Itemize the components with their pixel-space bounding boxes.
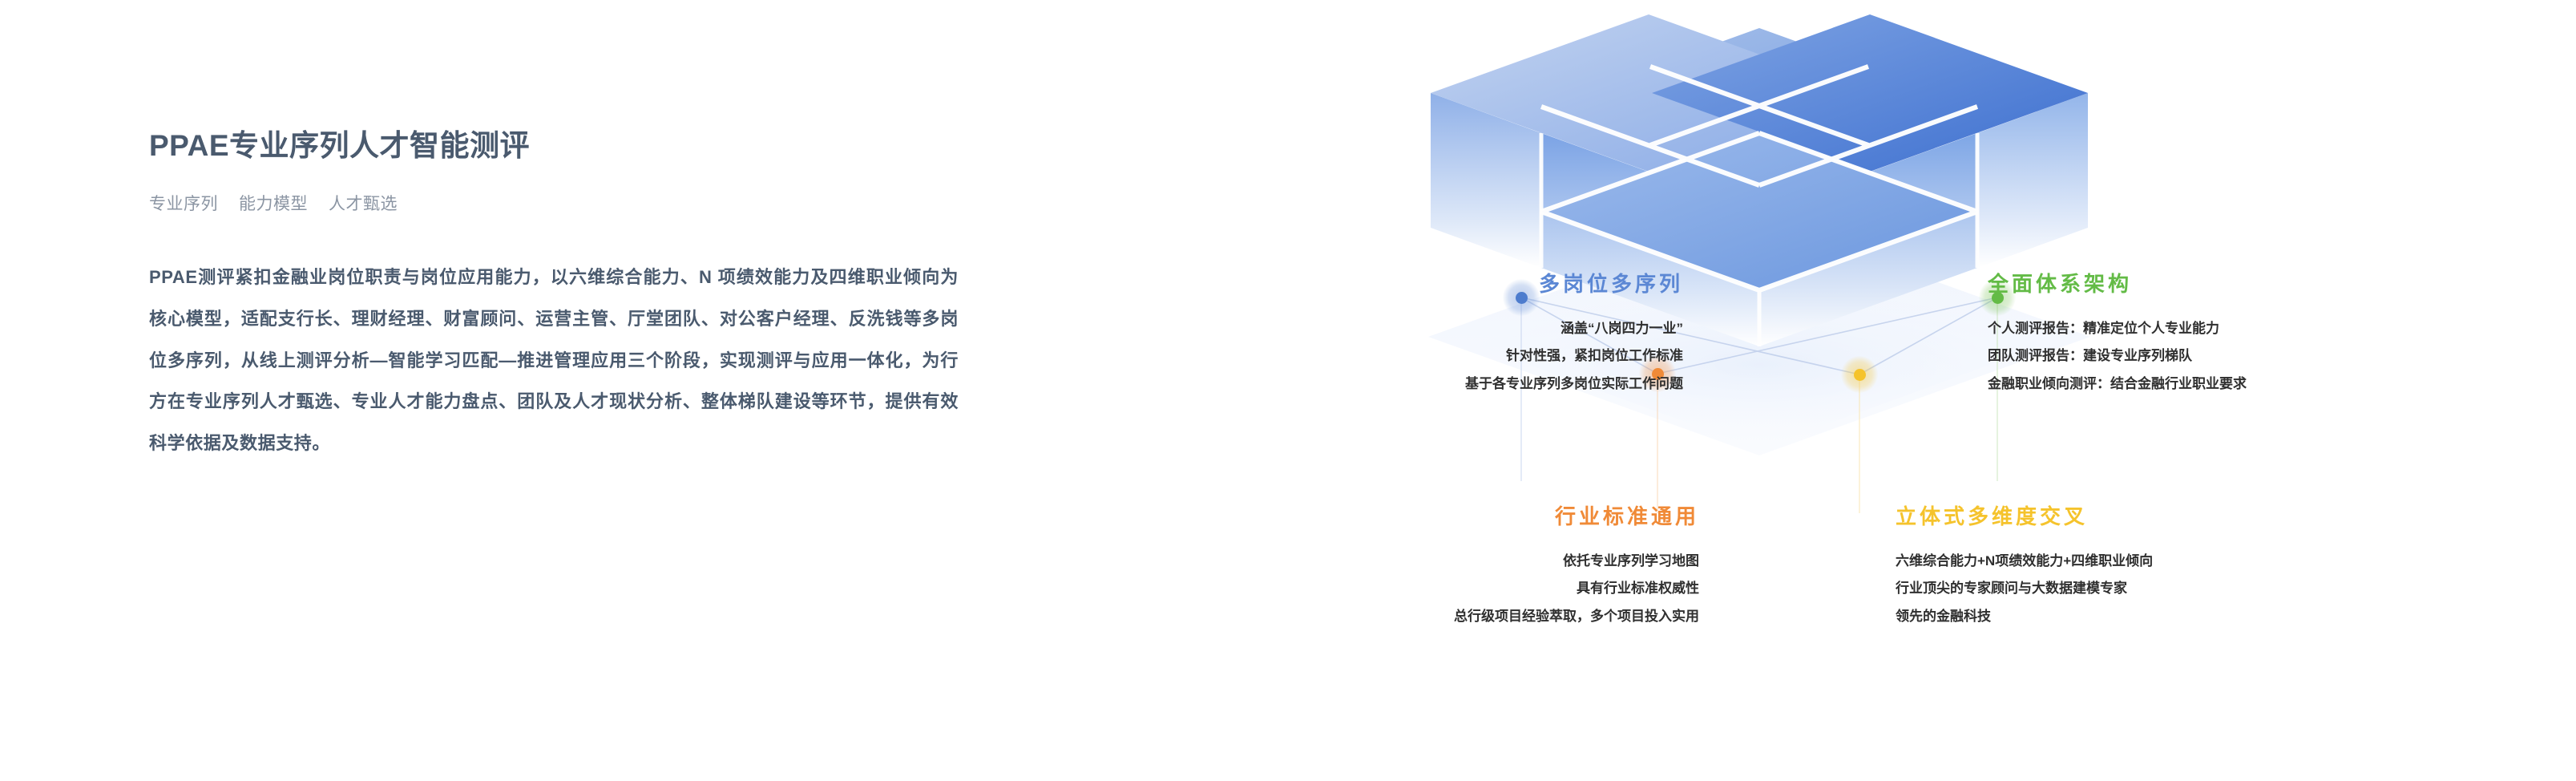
callout-line: 领先的金融科技 xyxy=(1896,603,2344,631)
intro-paragraph: PPAE测评紧扣金融业岗位职责与岗位应用能力，以六维综合能力、N 项绩效能力及四… xyxy=(149,257,959,463)
callout-line: 具有行业标准权威性 xyxy=(1314,575,1699,603)
callout-multi-role: 多岗位多序列 涵盖“八岗四力一业” 针对性强，紧扣岗位工作标准 基于各专业序列多… xyxy=(1230,271,1683,399)
intro-text-column: PPAE专业序列人才智能测评 专业序列 能力模型 人才甄选 PPAE测评紧扣金融… xyxy=(149,128,999,482)
callout-line: 金融职业倾向测评：结合金融行业职业要求 xyxy=(1988,370,2469,399)
callout-multi-dimension: 立体式多维度交叉 六维综合能力+N项绩效能力+四维职业倾向 行业顶尖的专家顾问与… xyxy=(1896,504,2344,631)
tag-talent-selection: 人才甄选 xyxy=(329,191,398,215)
callout-full-system: 全面体系架构 个人测评报告：精准定位个人专业能力 团队测评报告：建设专业序列梯队… xyxy=(1988,271,2469,399)
tag-professional-sequence: 专业序列 xyxy=(149,191,218,215)
callout-line: 个人测评报告：精准定位个人专业能力 xyxy=(1988,315,2469,343)
tag-competency-model: 能力模型 xyxy=(239,191,308,215)
tag-row: 专业序列 能力模型 人才甄选 xyxy=(149,191,999,215)
callout-line: 依托专业序列学习地图 xyxy=(1314,548,1699,576)
callout-line: 针对性强，紧扣岗位工作标准 xyxy=(1230,342,1683,370)
page-title: PPAE专业序列人才智能测评 xyxy=(149,128,999,164)
callout-line: 总行级项目经验萃取，多个项目投入实用 xyxy=(1314,603,1699,631)
callout-line: 涵盖“八岗四力一业” xyxy=(1230,315,1683,343)
callout-full-system-heading: 全面体系架构 xyxy=(1988,271,2469,297)
callout-multi-role-lines: 涵盖“八岗四力一业” 针对性强，紧扣岗位工作标准 基于各专业序列多岗位实际工作问… xyxy=(1230,315,1683,399)
callout-industry-standard-heading: 行业标准通用 xyxy=(1314,504,1699,530)
node-core-yellow xyxy=(1854,369,1866,381)
callout-industry-standard: 行业标准通用 依托专业序列学习地图 具有行业标准权威性 总行级项目经验萃取，多个… xyxy=(1314,504,1699,631)
diagram-stage: 多岗位多序列 涵盖“八岗四力一业” 针对性强，紧扣岗位工作标准 基于各专业序列多… xyxy=(1106,0,2576,781)
callout-line: 六维综合能力+N项绩效能力+四维职业倾向 xyxy=(1896,548,2344,576)
node-dot-yellow xyxy=(1841,356,1878,393)
callout-line: 团队测评报告：建设专业序列梯队 xyxy=(1988,342,2469,370)
callout-multi-role-heading: 多岗位多序列 xyxy=(1230,271,1683,297)
callout-multi-dimension-lines: 六维综合能力+N项绩效能力+四维职业倾向 行业顶尖的专家顾问与大数据建模专家 领… xyxy=(1896,548,2344,632)
callout-industry-standard-lines: 依托专业序列学习地图 具有行业标准权威性 总行级项目经验萃取，多个项目投入实用 xyxy=(1314,548,1699,632)
callout-full-system-lines: 个人测评报告：精准定位个人专业能力 团队测评报告：建设专业序列梯队 金融职业倾向… xyxy=(1988,315,2469,399)
callout-line: 行业顶尖的专家顾问与大数据建模专家 xyxy=(1896,575,2344,603)
callout-multi-dimension-heading: 立体式多维度交叉 xyxy=(1896,504,2344,530)
callout-line: 基于各专业序列多岗位实际工作问题 xyxy=(1230,370,1683,399)
